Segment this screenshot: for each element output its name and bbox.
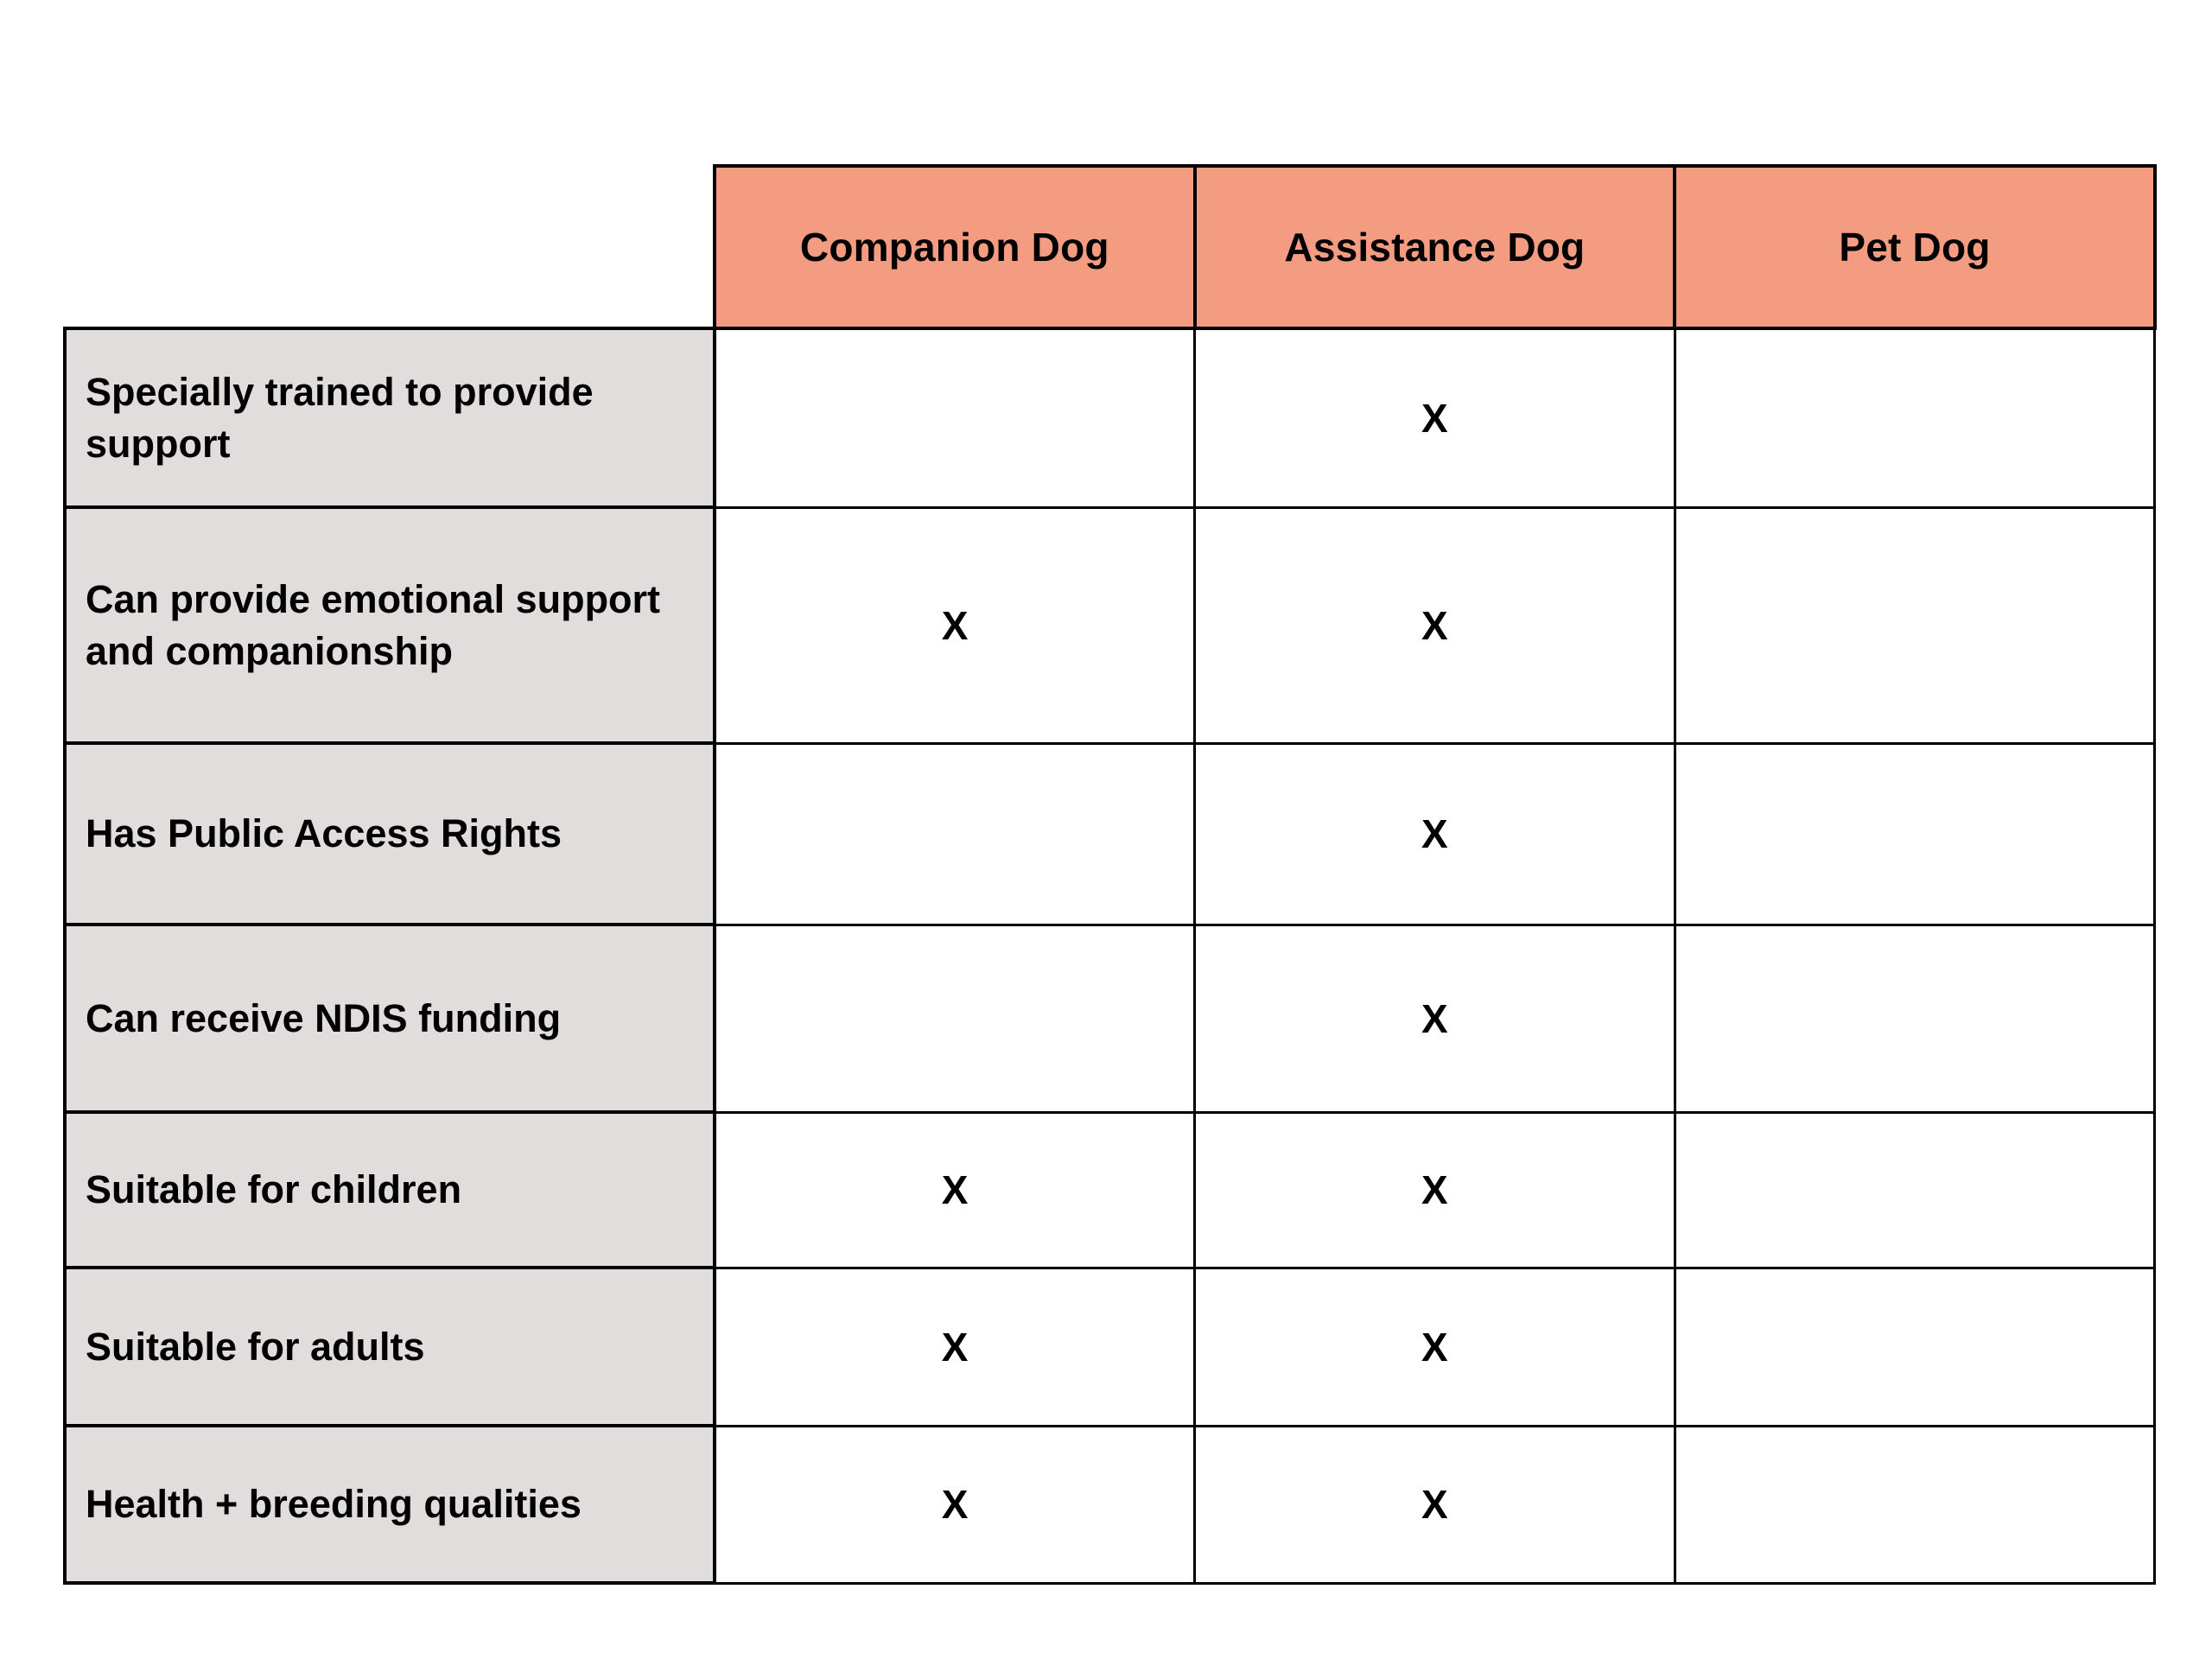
row-label-health-breeding-qualities: Health + breeding qualities (65, 1426, 715, 1583)
cell-emotional-support-assistance: X (1195, 507, 1675, 743)
cell-ndis-funding-pet (1675, 925, 2155, 1112)
cell-ndis-funding-companion (715, 925, 1195, 1112)
table-row: Suitable for adults X X (65, 1268, 2155, 1426)
check-mark: X (942, 1484, 969, 1524)
check-mark: X (1421, 1170, 1448, 1210)
page-canvas: Companion Dog Assistance Dog Pet Dog Spe… (0, 0, 2212, 1659)
cell-emotional-support-companion: X (715, 507, 1195, 743)
cell-public-access-pet (1675, 743, 2155, 925)
check-mark: X (1421, 999, 1448, 1039)
check-mark: X (942, 1170, 969, 1210)
table-row: Can receive NDIS funding X (65, 925, 2155, 1112)
cell-adults-pet (1675, 1268, 2155, 1426)
table-row: Suitable for children X X (65, 1112, 2155, 1268)
cell-children-pet (1675, 1112, 2155, 1268)
check-mark: X (1421, 606, 1448, 645)
row-label-suitable-for-children: Suitable for children (65, 1112, 715, 1268)
cell-health-breeding-assistance: X (1195, 1426, 1675, 1583)
row-label-suitable-for-adults: Suitable for adults (65, 1268, 715, 1426)
cell-adults-companion: X (715, 1268, 1195, 1426)
table-row: Can provide emotional support and compan… (65, 507, 2155, 743)
column-header-pet-dog: Pet Dog (1675, 166, 2155, 328)
cell-specially-trained-assistance: X (1195, 328, 1675, 507)
table-row: Health + breeding qualities X X (65, 1426, 2155, 1583)
cell-specially-trained-companion (715, 328, 1195, 507)
row-label-emotional-support: Can provide emotional support and compan… (65, 507, 715, 743)
row-label-public-access-rights: Has Public Access Rights (65, 743, 715, 925)
table-body: Specially trained to provide support X C… (65, 328, 2155, 1583)
row-label-ndis-funding: Can receive NDIS funding (65, 925, 715, 1112)
table-header-row: Companion Dog Assistance Dog Pet Dog (65, 166, 2155, 328)
cell-health-breeding-companion: X (715, 1426, 1195, 1583)
column-header-assistance-dog: Assistance Dog (1195, 166, 1675, 328)
table-corner-cell (65, 166, 715, 328)
cell-public-access-assistance: X (1195, 743, 1675, 925)
cell-adults-assistance: X (1195, 1268, 1675, 1426)
cell-children-assistance: X (1195, 1112, 1675, 1268)
check-mark: X (942, 1327, 969, 1367)
cell-public-access-companion (715, 743, 1195, 925)
check-mark: X (1421, 1484, 1448, 1524)
check-mark: X (1421, 1327, 1448, 1367)
column-header-companion-dog: Companion Dog (715, 166, 1195, 328)
check-mark: X (942, 606, 969, 645)
cell-ndis-funding-assistance: X (1195, 925, 1675, 1112)
table-row: Specially trained to provide support X (65, 328, 2155, 507)
dog-type-comparison-table: Companion Dog Assistance Dog Pet Dog Spe… (63, 164, 2157, 1585)
cell-specially-trained-pet (1675, 328, 2155, 507)
cell-emotional-support-pet (1675, 507, 2155, 743)
row-label-specially-trained: Specially trained to provide support (65, 328, 715, 507)
cell-children-companion: X (715, 1112, 1195, 1268)
cell-health-breeding-pet (1675, 1426, 2155, 1583)
check-mark: X (1421, 398, 1448, 438)
check-mark: X (1421, 814, 1448, 854)
table-header: Companion Dog Assistance Dog Pet Dog (65, 166, 2155, 328)
table-row: Has Public Access Rights X (65, 743, 2155, 925)
